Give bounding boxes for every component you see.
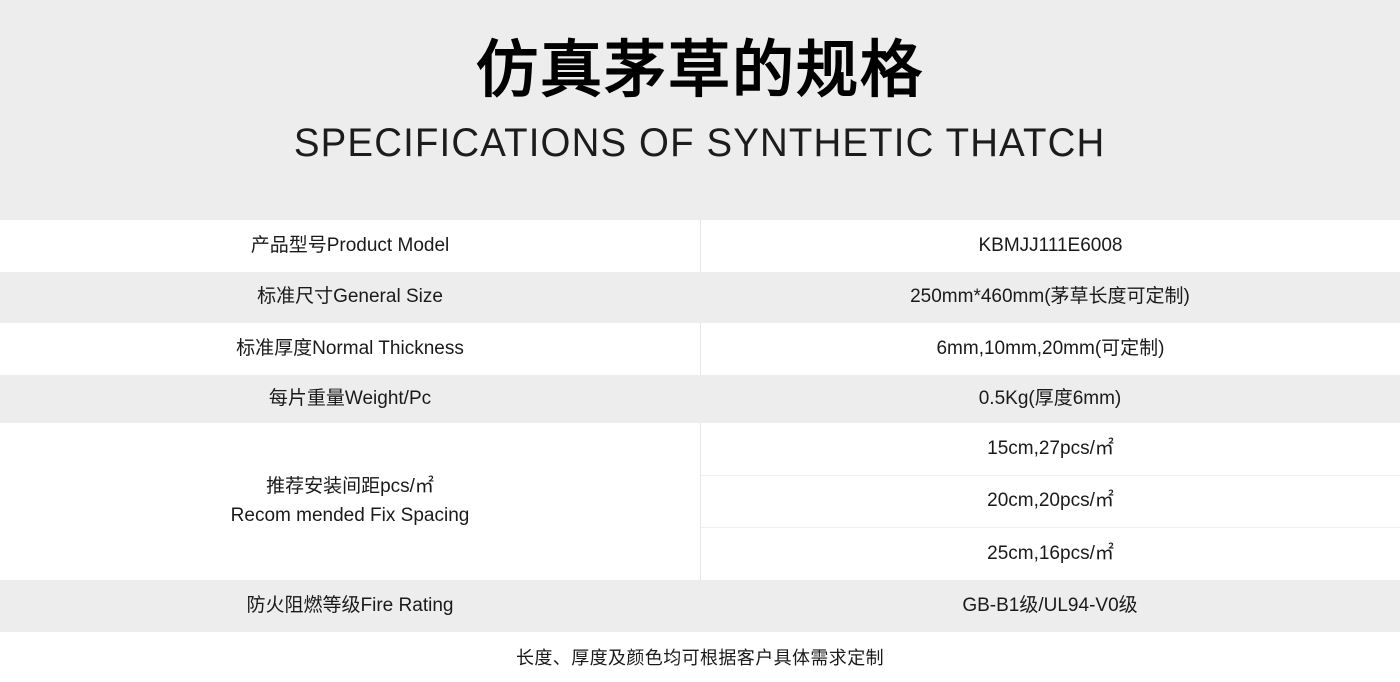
spec-label: 产品型号Product Model <box>0 220 700 272</box>
spec-label-spacing: 推荐安装间距pcs/㎡ Recom mended Fix Spacing <box>0 423 700 580</box>
table-row: 防火阻燃等级Fire Rating GB-B1级/UL94-V0级 <box>0 580 1400 632</box>
table-row: 产品型号Product Model KBMJJ111E6008 <box>0 220 1400 272</box>
spec-label-line1: 推荐安装间距pcs/㎡ <box>231 473 470 502</box>
spacing-value-row: 25cm,16pcs/㎡ <box>701 527 1400 580</box>
spec-value: 6mm,10mm,20mm(可定制) <box>700 323 1400 375</box>
specifications-table: 产品型号Product Model KBMJJ111E6008 标准尺寸Gene… <box>0 220 1400 632</box>
spacing-value-row: 20cm,20pcs/㎡ <box>701 475 1400 528</box>
table-row-spacing: 推荐安装间距pcs/㎡ Recom mended Fix Spacing 15c… <box>0 423 1400 580</box>
page-title-english: SPECIFICATIONS OF SYNTHETIC THATCH <box>294 121 1105 165</box>
page-title-chinese: 仿真茅草的规格 <box>476 36 924 105</box>
spec-label: 每片重量Weight/Pc <box>0 375 700 423</box>
spec-label: 标准尺寸General Size <box>0 272 700 323</box>
table-row: 标准尺寸General Size 250mm*460mm(茅草长度可定制) <box>0 272 1400 323</box>
spec-value: 0.5Kg(厚度6mm) <box>700 375 1400 423</box>
specification-sheet: 仿真茅草的规格 SPECIFICATIONS OF SYNTHETIC THAT… <box>0 0 1400 682</box>
spec-value: 250mm*460mm(茅草长度可定制) <box>700 272 1400 323</box>
table-row: 标准厚度Normal Thickness 6mm,10mm,20mm(可定制) <box>0 323 1400 375</box>
spec-value: KBMJJ111E6008 <box>700 220 1400 272</box>
spacing-values-group: 15cm,27pcs/㎡ 20cm,20pcs/㎡ 25cm,16pcs/㎡ <box>700 423 1400 580</box>
spec-label: 标准厚度Normal Thickness <box>0 323 700 375</box>
spec-label: 防火阻燃等级Fire Rating <box>0 580 700 632</box>
header-block: 仿真茅草的规格 SPECIFICATIONS OF SYNTHETIC THAT… <box>0 0 1400 220</box>
footer-block: 长度、厚度及颜色均可根据客户具体需求定制 <box>0 632 1400 682</box>
footer-note: 长度、厚度及颜色均可根据客户具体需求定制 <box>516 644 884 670</box>
spec-label-line2: Recom mended Fix Spacing <box>231 502 470 531</box>
spec-value: GB-B1级/UL94-V0级 <box>700 580 1400 632</box>
table-row: 每片重量Weight/Pc 0.5Kg(厚度6mm) <box>0 375 1400 423</box>
spacing-value-row: 15cm,27pcs/㎡ <box>701 423 1400 475</box>
